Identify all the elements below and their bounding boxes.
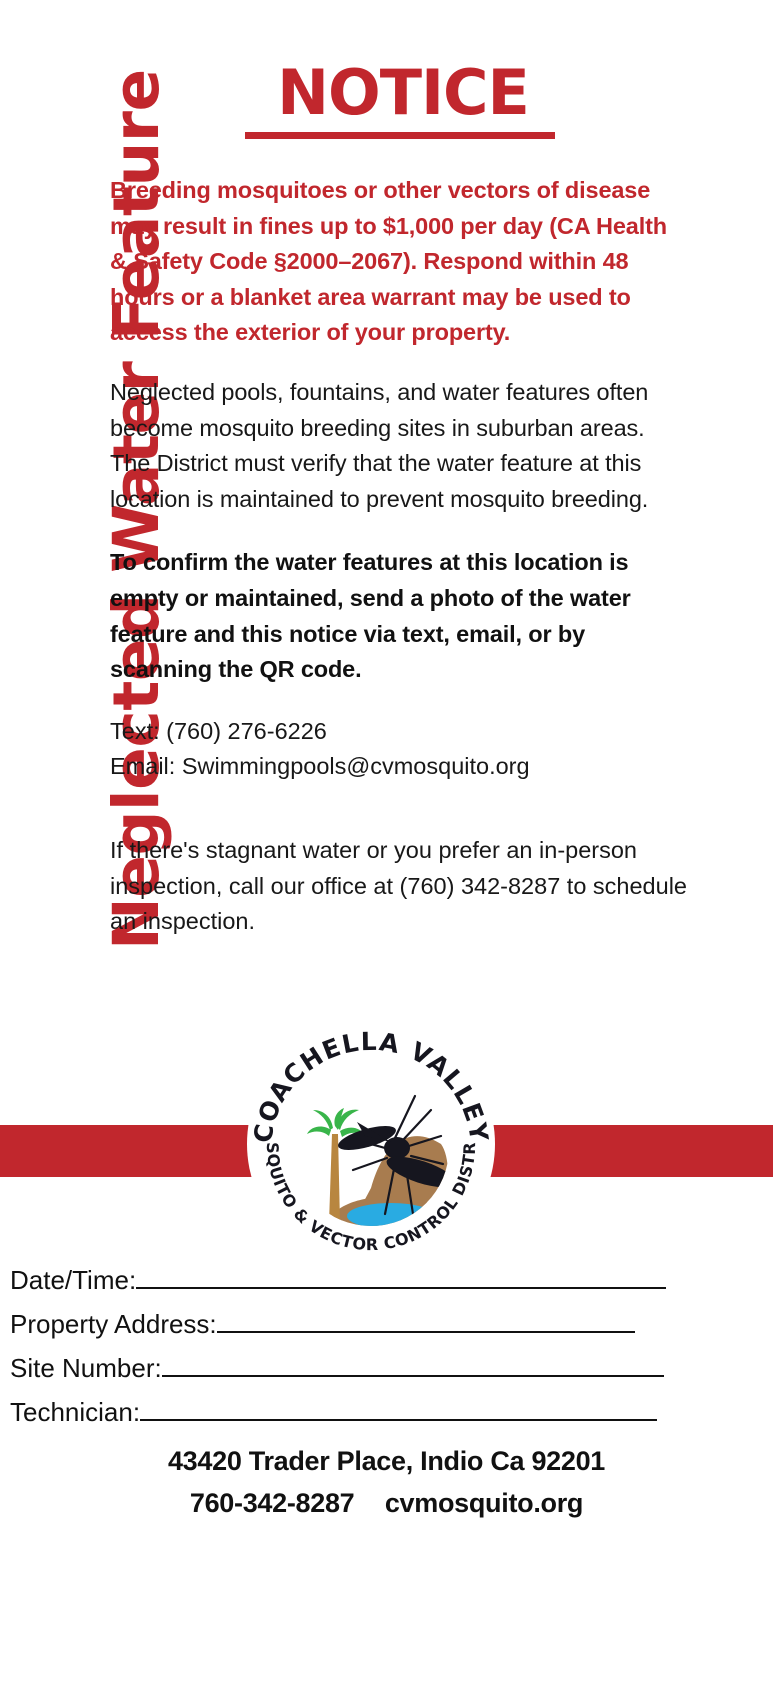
body-paragraph: Neglected pools, fountains, and water fe… bbox=[110, 375, 690, 517]
field-row-date-time[interactable]: Date/Time: bbox=[10, 1258, 710, 1302]
field-input-date-time[interactable] bbox=[136, 1287, 666, 1289]
field-row-property-address[interactable]: Property Address: bbox=[10, 1302, 710, 1346]
form-fields: Date/Time: Property Address: Site Number… bbox=[10, 1258, 710, 1434]
footer-address: 43420 Trader Place, Indio Ca 92201 bbox=[0, 1440, 773, 1482]
instruction-text: To confirm the water features at this lo… bbox=[110, 545, 690, 687]
closing-text: If there's stagnant water or you prefer … bbox=[110, 833, 690, 940]
title-underline bbox=[245, 132, 555, 139]
field-label-date-time: Date/Time: bbox=[10, 1258, 136, 1302]
contact-text-line[interactable]: Text: (760) 276-6226 bbox=[110, 714, 690, 750]
field-row-site-number[interactable]: Site Number: bbox=[10, 1346, 710, 1390]
field-label-site-number: Site Number: bbox=[10, 1346, 162, 1390]
side-title-container: Neglected Water Feature bbox=[0, 60, 110, 960]
notice-page: Neglected Water Feature NOTICE Breeding … bbox=[0, 0, 773, 1683]
field-input-technician[interactable] bbox=[140, 1419, 657, 1421]
field-input-property-address[interactable] bbox=[217, 1331, 635, 1333]
main-content: NOTICE Breeding mosquitoes or other vect… bbox=[110, 58, 690, 940]
warning-text: Breeding mosquitoes or other vectors of … bbox=[110, 173, 690, 351]
contact-email-line[interactable]: Email: Swimmingpools@cvmosquito.org bbox=[110, 749, 690, 785]
contact-block: Text: (760) 276-6226 Email: Swimmingpool… bbox=[110, 714, 690, 785]
page-title: NOTICE bbox=[110, 58, 690, 128]
field-label-technician: Technician: bbox=[10, 1390, 140, 1434]
footer: 43420 Trader Place, Indio Ca 92201 760-3… bbox=[0, 1440, 773, 1524]
field-input-site-number[interactable] bbox=[162, 1375, 664, 1377]
footer-phone[interactable]: 760-342-8287 bbox=[190, 1488, 355, 1518]
footer-website[interactable]: cvmosquito.org bbox=[385, 1488, 583, 1518]
field-label-property-address: Property Address: bbox=[10, 1302, 217, 1346]
footer-contact: 760-342-8287 cvmosquito.org bbox=[0, 1482, 773, 1524]
field-row-technician[interactable]: Technician: bbox=[10, 1390, 710, 1434]
district-logo: COACHELLA VALLEY MOSQUITO & VECTOR CONTR… bbox=[245, 1018, 497, 1270]
